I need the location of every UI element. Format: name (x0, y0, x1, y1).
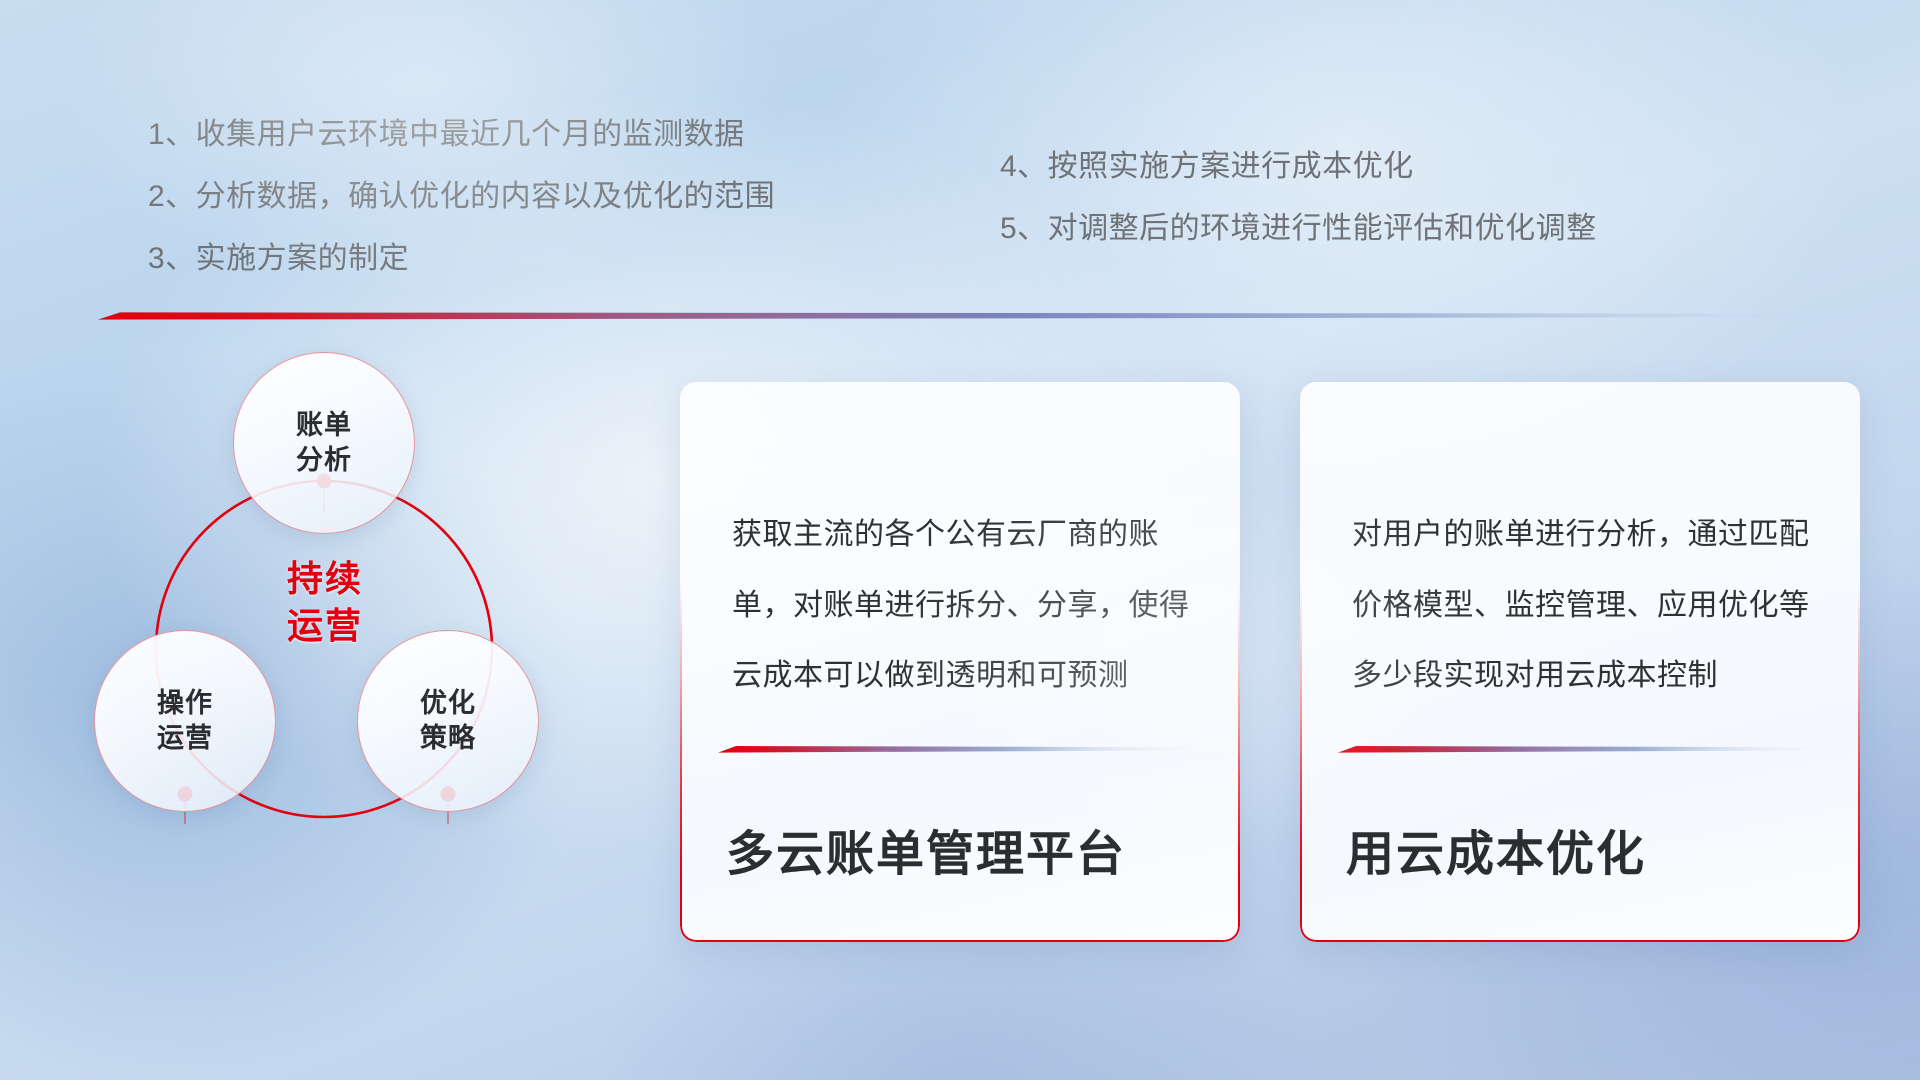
bubble-label-line2: 运营 (157, 721, 213, 756)
slide-canvas: 1、收集用户云环境中最近几个月的监测数据 2、分析数据，确认优化的内容以及优化的… (0, 0, 1920, 1080)
step-item-4: 4、按照实施方案进行成本优化 (1000, 152, 1830, 182)
step-item-2: 2、分析数据，确认优化的内容以及优化的范围 (148, 182, 928, 212)
card-cloud-cost-optimization[interactable]: 对用户的账单进行分析，通过匹配价格模型、监控管理、应用优化等多少段实现对用云成本… (1300, 382, 1860, 942)
step-item-3: 3、实施方案的制定 (148, 244, 928, 274)
card-title: 用云成本优化 (1346, 814, 1646, 884)
bubble-optimization-strategy[interactable]: 优化 策略 (357, 630, 539, 812)
continuous-operation-diagram: 账单 分析 操作 运营 优化 策略 持续 运营 (86, 352, 646, 952)
bubble-label-line1: 账单 (296, 408, 352, 443)
card-divider (1338, 744, 1816, 753)
bubble-label-line1: 操作 (157, 686, 213, 721)
step-item-1: 1、收集用户云环境中最近几个月的监测数据 (148, 120, 928, 150)
card-body-text: 对用户的账单进行分析，通过匹配价格模型、监控管理、应用优化等多少段实现对用云成本… (1352, 500, 1814, 712)
card-multi-cloud-bill-platform[interactable]: 获取主流的各个公有云厂商的账单，对账单进行拆分、分享，使得云成本可以做到透明和可… (680, 382, 1240, 942)
bubble-label-line2: 策略 (420, 721, 476, 756)
bubble-bill-analysis[interactable]: 账单 分析 (233, 352, 415, 534)
bubble-label-line2: 分析 (296, 443, 352, 478)
steps-left-column: 1、收集用户云环境中最近几个月的监测数据 2、分析数据，确认优化的内容以及优化的… (148, 120, 928, 306)
center-label-line1: 持续 (232, 556, 418, 603)
bubble-operation-management[interactable]: 操作 运营 (94, 630, 276, 812)
step-item-5: 5、对调整后的环境进行性能评估和优化调整 (1000, 214, 1830, 244)
section-divider (98, 310, 1840, 320)
steps-right-column: 4、按照实施方案进行成本优化 5、对调整后的环境进行性能评估和优化调整 (1000, 152, 1830, 276)
bubble-label-line1: 优化 (420, 686, 476, 721)
diagram-center-label: 持续 运营 (232, 556, 418, 650)
card-title: 多云账单管理平台 (726, 814, 1126, 884)
center-label-line2: 运营 (232, 603, 418, 650)
card-body-text: 获取主流的各个公有云厂商的账单，对账单进行拆分、分享，使得云成本可以做到透明和可… (732, 500, 1194, 712)
card-divider (718, 744, 1196, 753)
